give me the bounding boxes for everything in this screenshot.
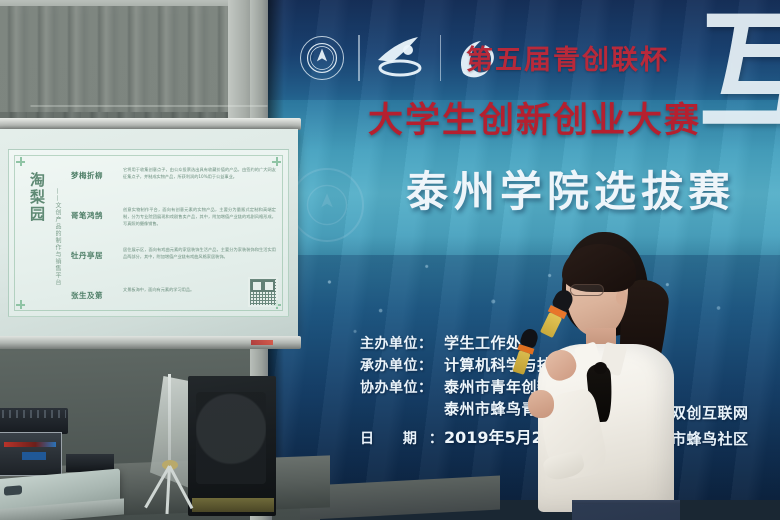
- slide-row-label: 梦梅折柳: [71, 170, 117, 181]
- date-label: 日 期：: [360, 428, 444, 448]
- tripod-pole: [168, 374, 171, 470]
- organizer-key: 承办单位：: [360, 355, 444, 375]
- screen-bottom-bar: [0, 336, 301, 349]
- slide-row-label: 张生及第: [71, 290, 117, 301]
- projection-screen: 淘梨园 ——文创产品的制作与销售平台 梦梅折柳 它将用于收集创意点子，由公众投票…: [0, 118, 301, 378]
- slide-corner-decoration: [16, 157, 25, 166]
- qr-code-icon: [248, 277, 278, 307]
- presentation-room-photo: 互 第五届青创联杯 大学生创新创业大赛 泰州学院选拔赛 主办单位： 学生工作处 …: [0, 0, 780, 520]
- organizer-key: 协办单位：: [360, 377, 444, 397]
- tripod-leg: [168, 465, 193, 509]
- banner-title-line1: 第五届青创联杯: [466, 38, 669, 77]
- slide-content-rows: 梦梅折柳 它将用于收集创意点子，由公众投票选出具有收藏价值的产品，由签约的广大网…: [71, 164, 278, 308]
- slide-subtitle: ——文创产品的制作与销售平台: [53, 188, 62, 286]
- screen-brand-chip: [251, 340, 273, 345]
- logo-divider: [440, 35, 442, 81]
- presentation-slide: 淘梨园 ——文创产品的制作与销售平台 梦梅折柳 它将用于收集创意点子，由公众投票…: [8, 149, 289, 317]
- slide-row-text: 创意实物制作平台，面向有创意元素的实物产品，主要分为量贩式定制和高端定制，分为专…: [123, 206, 276, 227]
- projector-lens: [4, 485, 22, 496]
- slide-row: 牡丹亭居 居住展示区，面向有戏曲元素的家居装饰生活产品，主要分为家装装饰和生活实…: [71, 244, 278, 284]
- slide-corner-decoration: [16, 300, 25, 309]
- organizer-key: 主办单位：: [360, 333, 444, 353]
- presenter-ear: [616, 290, 627, 305]
- mixer-knobs: [2, 410, 66, 418]
- presenter-hand-lower: [528, 390, 554, 418]
- university-emblem-watermark: [290, 168, 364, 242]
- microphone-body: [540, 312, 562, 338]
- presenter: [520, 232, 680, 520]
- innovation-figure-logo: [374, 34, 426, 82]
- slide-title: 淘梨园: [25, 172, 51, 223]
- university-emblem-logo: [300, 36, 344, 80]
- slide-row: 张生及第 文景板海中，面向有元素的学习用品。: [71, 284, 278, 324]
- slide-row-text: 居住展示区，面向有戏曲元素的家居装饰生活产品，主要分为家装装饰和生活实用品两部分…: [123, 246, 276, 260]
- big-character-hu: 互: [698, 14, 780, 132]
- microphone-body: [512, 350, 530, 375]
- banner-title-line3: 泰州学院选拔赛: [406, 158, 735, 219]
- amplifier-led-strip: [4, 442, 56, 447]
- slide-row-label: 哥笔鸿鹄: [71, 210, 117, 221]
- organizer-value: 学生工作处: [444, 332, 522, 353]
- presenter-ribbon-knot: [594, 362, 607, 374]
- screen-surface: 淘梨园 ——文创产品的制作与销售平台 梦梅折柳 它将用于收集创意点子，由公众投票…: [0, 129, 298, 337]
- banner-title-line2: 大学生创新创业大赛: [368, 92, 701, 143]
- presenter-skirt: [572, 504, 680, 520]
- slide-row: 哥笔鸿鹄 创意实物制作平台，面向有创意元素的实物产品，主要分为量贩式定制和高端定…: [71, 204, 278, 244]
- amplifier-display: [22, 452, 46, 460]
- slide-row-label: 牡丹亭居: [71, 250, 117, 261]
- window-curtain: [0, 6, 250, 118]
- slide-row-text: 它将用于收集创意点子，由公众投票选出具有收藏价值的产品，由签约的广大网友征集点子…: [123, 166, 276, 180]
- tripod-stand: [126, 374, 214, 514]
- slide-row: 梦梅折柳 它将用于收集创意点子，由公众投票选出具有收藏价值的产品，由签约的广大网…: [71, 164, 278, 204]
- logo-divider: [358, 35, 360, 81]
